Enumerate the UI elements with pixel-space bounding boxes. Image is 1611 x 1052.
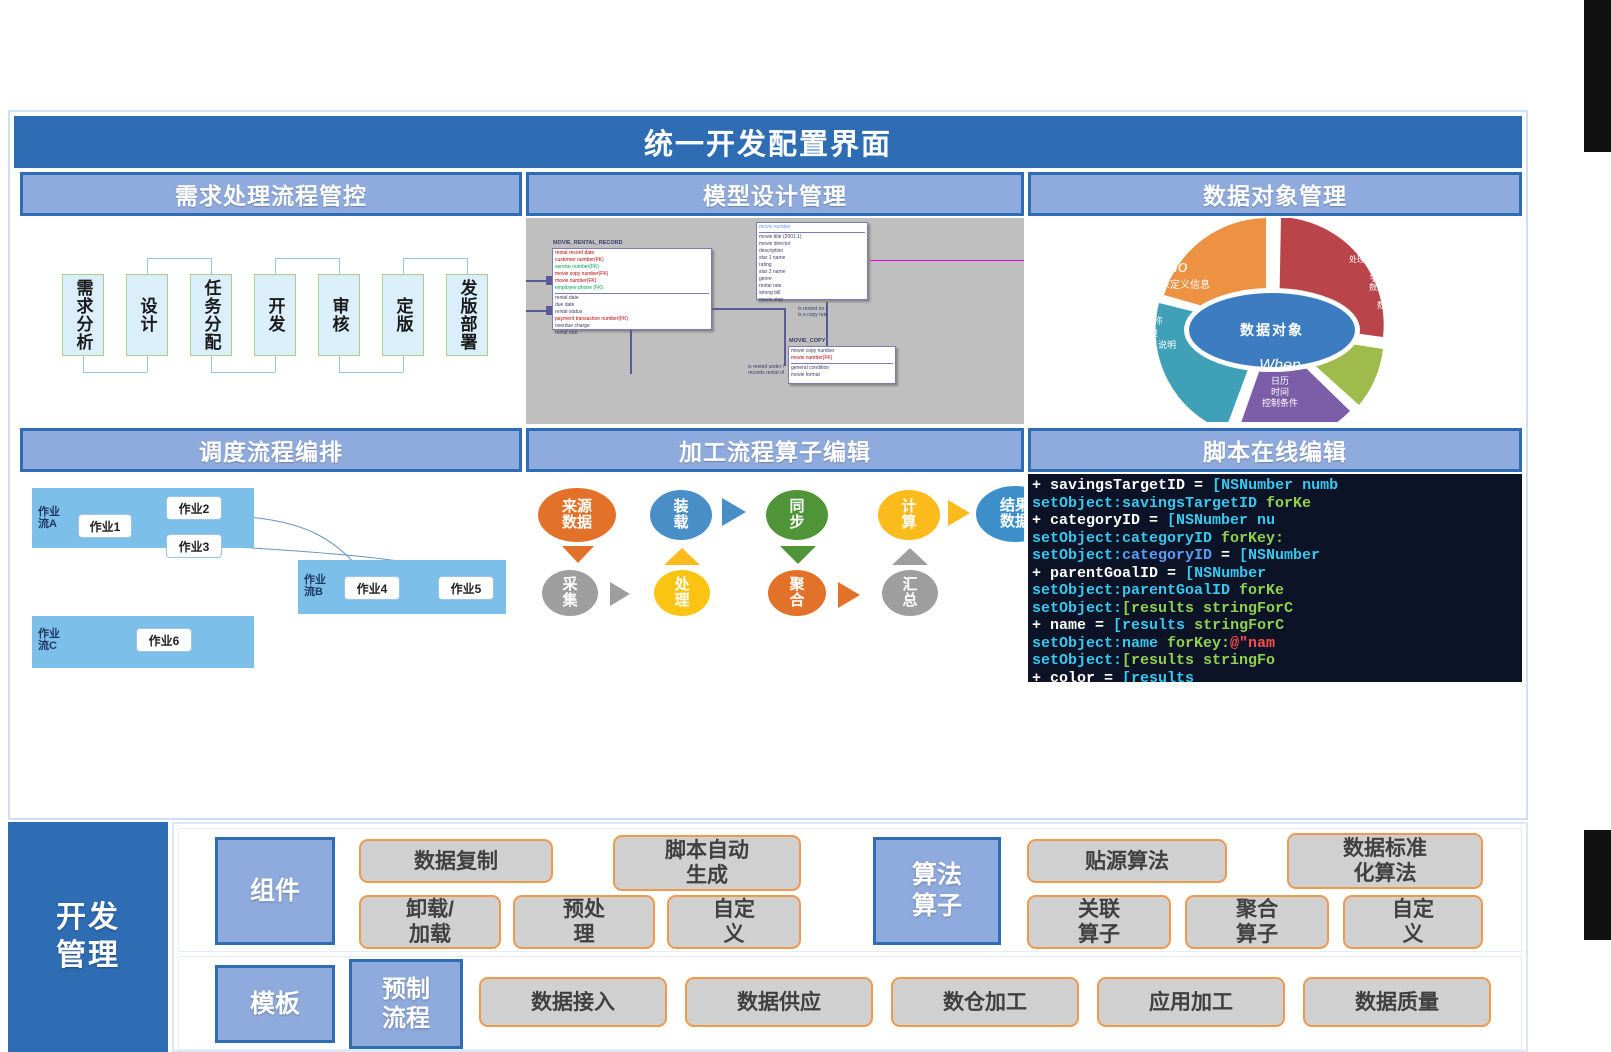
- svg-text:处理数据的逻辑、加工、算法: 处理数据的逻辑、加工、算法: [1349, 254, 1453, 264]
- operator-node-process[interactable]: 处理: [654, 570, 710, 616]
- panel-schedule[interactable]: 调度流程编排 作业流A 作业1 作业2 作业3 作业流B 作业4 作业5: [20, 428, 522, 682]
- donut-svg: 数据对象 Who 数据对象定义信息 How 处理数据的逻辑、加工、算法 规则 字…: [1028, 218, 1516, 422]
- preset-flow-box-label[interactable]: 预制流程: [349, 959, 463, 1049]
- operator-node-source[interactable]: 来源数据: [538, 488, 616, 542]
- chip-data-quality[interactable]: 数据质量: [1303, 977, 1491, 1027]
- dev-management-body: 组件 数据复制 脚本自动生成 卸载/加载 预处理 自定义 算法算子 贴源算法 数…: [172, 822, 1528, 1052]
- flow-connector: [339, 258, 340, 274]
- flow-step-7[interactable]: 发版部署: [446, 274, 488, 356]
- component-box-label[interactable]: 组件: [215, 837, 335, 945]
- panel-model-body: MOVIE_RENTAL_RECORD rental record date c…: [526, 218, 1024, 424]
- operator-node-aggregate[interactable]: 聚合: [768, 570, 826, 616]
- svg-text:数据质量加工规则: 数据质量加工规则: [1369, 282, 1433, 292]
- panel-model[interactable]: 模型设计管理 MOVIE_RENTAL_RECORD rental record…: [526, 172, 1024, 424]
- chip-source-algorithm[interactable]: 贴源算法: [1027, 839, 1227, 883]
- job-node-6[interactable]: 作业6: [136, 628, 192, 652]
- flow-connector: [147, 258, 148, 274]
- template-box-label[interactable]: 模板: [215, 965, 335, 1043]
- flow-connector: [211, 356, 212, 372]
- chip-app-process[interactable]: 应用加工: [1097, 977, 1285, 1027]
- flow-connector: [211, 372, 275, 373]
- panel-grid: 需求处理流程管控 需求分析设计任务分配开发审核定版发版部署 模型设计管理 MOV…: [14, 172, 1522, 682]
- chip-warehouse-process[interactable]: 数仓加工: [891, 977, 1079, 1027]
- er-table-title: MOVIE: [757, 218, 775, 221]
- svg-text:数据对象的名称: 数据对象的名称: [1099, 315, 1162, 326]
- svg-text:What: What: [1112, 297, 1150, 314]
- arrow-down-green-icon: [780, 546, 816, 564]
- job-node-2[interactable]: 作业2: [166, 496, 222, 520]
- svg-text:时间: 时间: [1271, 386, 1289, 397]
- flow-step-2[interactable]: 设计: [126, 274, 168, 356]
- chip-standardize-algorithm[interactable]: 数据标准化算法: [1287, 833, 1483, 889]
- main-canvas: 统一开发配置界面 需求处理流程管控 需求分析设计任务分配开发审核定版发版部署 模…: [8, 110, 1528, 820]
- svg-text:控制条件: 控制条件: [1262, 397, 1298, 408]
- flow-connector: [275, 258, 339, 259]
- job-node-4[interactable]: 作业4: [344, 576, 400, 600]
- flow-step-5[interactable]: 审核: [318, 274, 360, 356]
- code-line: + color = [results: [1032, 670, 1522, 683]
- svg-text:Where: Where: [1408, 320, 1455, 337]
- svg-text:数据对象用途: 数据对象用途: [1104, 327, 1158, 338]
- svg-text:数据标准: 数据标准: [1385, 291, 1417, 301]
- chip-data-supply[interactable]: 数据供应: [685, 977, 873, 1027]
- operator-node-load[interactable]: 装载: [650, 490, 712, 540]
- arrow-right-yellow-icon: [948, 500, 970, 526]
- code-line: setObject:[results stringFo: [1032, 652, 1522, 670]
- panel-operator-body: 来源数据 采集 装载 处理 同步 聚合 计算 汇总 结果数据: [526, 474, 1024, 682]
- flow-connector: [339, 356, 340, 372]
- arrow-up-gray-icon: [892, 548, 928, 565]
- flow-step-1[interactable]: 需求分析: [62, 274, 104, 356]
- flow-connector: [467, 258, 468, 274]
- flow-connector: [339, 372, 403, 373]
- panel-dataobject[interactable]: 数据对象管理 数据对象: [1028, 172, 1522, 424]
- er-table-title: MOVIE_COPY: [789, 338, 825, 345]
- chip-script-autogen[interactable]: 脚本自动生成: [613, 835, 801, 891]
- panel-schedule-body: 作业流A 作业1 作业2 作业3 作业流B 作业4 作业5 作业流C 作业6: [20, 474, 522, 682]
- panel-requirement[interactable]: 需求处理流程管控 需求分析设计任务分配开发审核定版发版部署: [20, 172, 522, 424]
- svg-text:When: When: [1259, 357, 1301, 374]
- panel-schedule-header: 调度流程编排: [20, 428, 522, 472]
- dev-management-section: 开发管理 组件 数据复制 脚本自动生成 卸载/加载 预处理 自定义 算法算子 贴…: [8, 822, 1528, 932]
- code-line: setObject:name forKey:@"nam: [1032, 635, 1522, 653]
- panel-requirement-body: 需求分析设计任务分配开发审核定版发版部署: [20, 218, 522, 424]
- panel-dataobject-header: 数据对象管理: [1028, 172, 1522, 216]
- svg-text:规则: 规则: [1393, 263, 1409, 273]
- chip-data-copy[interactable]: 数据复制: [359, 839, 553, 883]
- flow-connector: [211, 258, 212, 274]
- operator-node-summary[interactable]: 汇总: [882, 570, 938, 616]
- panel-operator-header: 加工流程算子编辑: [526, 428, 1024, 472]
- dataobject-donut: 数据对象 Who 数据对象定义信息 How 处理数据的逻辑、加工、算法 规则 字…: [1028, 218, 1522, 424]
- arrow-right-gray-icon: [610, 582, 630, 606]
- panel-model-header: 模型设计管理: [526, 172, 1024, 216]
- chip-aggregate-operator[interactable]: 聚合算子: [1185, 895, 1329, 949]
- chip-preprocess[interactable]: 预处理: [513, 895, 655, 949]
- flow-connector: [83, 356, 84, 372]
- code-line: + name = [results stringForC: [1032, 617, 1522, 635]
- svg-text:Who: Who: [1153, 257, 1188, 276]
- dev-management-label: 开发管理: [8, 822, 168, 1052]
- svg-text:数据对象定义信息: 数据对象定义信息: [1130, 278, 1210, 291]
- svg-text:日历: 日历: [1271, 376, 1289, 386]
- er-table-title: MOVIE_RENTAL_RECORD: [553, 240, 623, 247]
- operator-node-compute[interactable]: 计算: [878, 490, 940, 540]
- arrow-right-blue-icon: [722, 498, 746, 526]
- flow-connector: [403, 258, 404, 274]
- flow-connector: [403, 356, 404, 372]
- code-line: setObject:categoryID forKey:: [1032, 530, 1522, 548]
- svg-text:字段mapping信息: 字段mapping信息: [1370, 273, 1433, 283]
- arrow-down-orange-icon: [562, 546, 594, 563]
- job-flow-b-label: 作业流B: [304, 574, 326, 598]
- flow-connector: [275, 356, 276, 372]
- flow-step-4[interactable]: 开发: [254, 274, 296, 356]
- flow-connector: [147, 258, 211, 259]
- algorithm-box-label[interactable]: 算法算子: [873, 837, 1001, 945]
- panel-dataobject-body: 数据对象 Who 数据对象定义信息 How 处理数据的逻辑、加工、算法 规则 字…: [1028, 218, 1522, 424]
- job-flow-c-label: 作业流C: [38, 628, 60, 652]
- er-table-movie: MOVIE movie number movie title (2001.1) …: [756, 222, 868, 300]
- code-line: + savingsTargetID = [NSNumber numb: [1032, 477, 1522, 495]
- dev-row-components: 组件 数据复制 脚本自动生成 卸载/加载 预处理 自定义 算法算子 贴源算法 数…: [178, 828, 1522, 952]
- chip-data-ingest[interactable]: 数据接入: [479, 977, 667, 1027]
- code-line: + parentGoalID = [NSNumber: [1032, 565, 1522, 583]
- flow-connector: [275, 258, 276, 274]
- operator-node-collect[interactable]: 采集: [542, 570, 598, 616]
- svg-text:数据对象业务定义说明: 数据对象业务定义说明: [1086, 339, 1176, 350]
- er-diagram: MOVIE_RENTAL_RECORD rental record date c…: [526, 218, 1024, 424]
- panel-requirement-header: 需求处理流程管控: [20, 172, 522, 216]
- operator-node-sync[interactable]: 同步: [766, 490, 828, 540]
- svg-text:数据存储视图: 数据存储视图: [1377, 300, 1425, 310]
- job-node-5[interactable]: 作业5: [438, 576, 494, 600]
- panel-operator[interactable]: 加工流程算子编辑 来源数据 采集 装载 处理 同步 聚合 计算 汇总 结果数据: [526, 428, 1024, 682]
- requirement-flowchart: 需求分析设计任务分配开发审核定版发版部署: [20, 218, 522, 424]
- code-line: + categoryID = [NSNumber nu: [1032, 512, 1522, 530]
- svg-text:数据对象: 数据对象: [1240, 322, 1304, 338]
- flow-connector: [147, 356, 148, 372]
- chip-custom-component[interactable]: 自定义: [667, 895, 801, 949]
- arrow-right-orange-icon: [838, 582, 860, 608]
- code-editor[interactable]: + savingsTargetID = [NSNumber numbsetObj…: [1028, 474, 1522, 682]
- panel-script-header: 脚本在线编辑: [1028, 428, 1522, 472]
- er-table-moviecopy: MOVIE_COPY movie copy number movie numbe…: [788, 346, 896, 384]
- flow-connector: [403, 258, 467, 259]
- code-line: setObject:categoryID = [NSNumber: [1032, 547, 1522, 565]
- job-node-1[interactable]: 作业1: [78, 514, 132, 538]
- chip-join-operator[interactable]: 关联算子: [1027, 895, 1171, 949]
- page-title: 统一开发配置界面: [14, 116, 1522, 168]
- chip-unload-load[interactable]: 卸载/加载: [359, 895, 501, 949]
- right-edge-band: [1556, 0, 1611, 940]
- chip-custom-operator[interactable]: 自定义: [1343, 895, 1483, 949]
- flow-step-3[interactable]: 任务分配: [190, 274, 232, 356]
- code-line: setObject:savingsTargetID forKe: [1032, 495, 1522, 513]
- svg-text:How: How: [1384, 233, 1420, 252]
- flow-step-6[interactable]: 定版: [382, 274, 424, 356]
- er-table-rental: MOVIE_RENTAL_RECORD rental record date c…: [552, 248, 712, 330]
- flow-connector: [83, 372, 147, 373]
- panel-script-body: + savingsTargetID = [NSNumber numbsetObj…: [1028, 474, 1522, 682]
- code-line: setObject:parentGoalID forKe: [1032, 582, 1522, 600]
- code-line: setObject:[results stringForC: [1032, 600, 1522, 618]
- arrow-up-yellow-icon: [664, 548, 700, 565]
- job-flow-a-label: 作业流A: [38, 506, 60, 530]
- svg-text:存放数据对象位置: 存放数据对象位置: [1396, 339, 1468, 350]
- job-node-3[interactable]: 作业3: [166, 534, 222, 558]
- svg-text:数值使用视图: 数值使用视图: [1104, 351, 1158, 362]
- panel-script[interactable]: 脚本在线编辑 + savingsTargetID = [NSNumber num…: [1028, 428, 1522, 682]
- svg-text:Mapping关系: Mapping关系: [1406, 351, 1459, 362]
- operator-node-result[interactable]: 结果数据: [976, 486, 1024, 542]
- dev-row-templates: 模板 预制流程 数据接入 数据供应 数仓加工 应用加工 数据质量: [178, 956, 1522, 1050]
